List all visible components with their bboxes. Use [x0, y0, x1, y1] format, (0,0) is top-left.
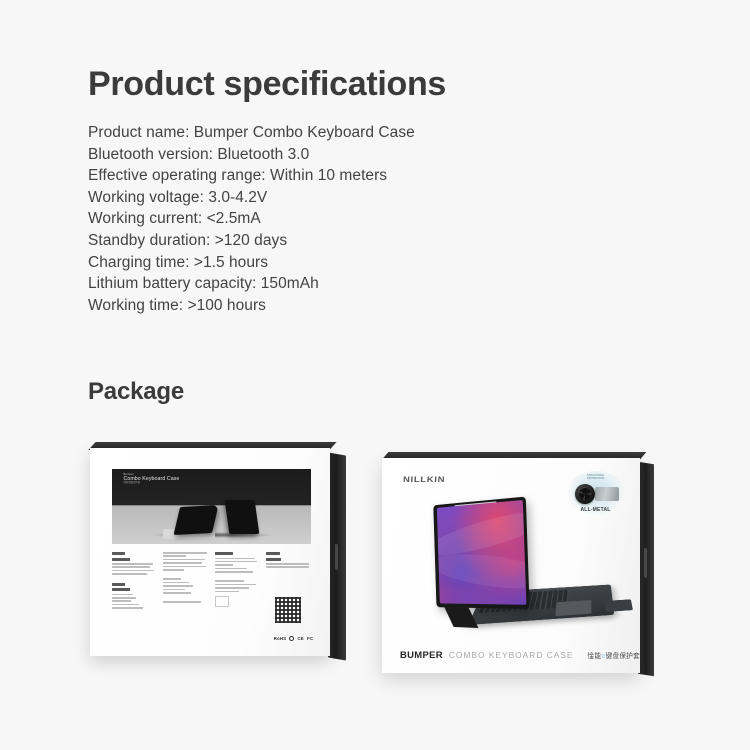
spec-line-product-name: Product name: Bumper Combo Keyboard Case: [88, 122, 648, 144]
box-back-text-row: [215, 568, 247, 570]
product-illustration: [418, 501, 614, 626]
box-back-column-3: [215, 552, 260, 644]
box-back-text-row: [215, 580, 244, 582]
package-box-front: NILLKIN STRUCTURAL PROTECTION ALL-METAL: [382, 458, 640, 673]
box-back-text-row: [163, 559, 205, 561]
box-back-col4-subheading: [266, 558, 281, 561]
cert-rohs-label: RoHS: [274, 636, 287, 641]
box-back-col3-heading: [215, 552, 234, 555]
box-back-text-row: [163, 562, 202, 564]
box-back-text-row: [215, 584, 256, 586]
box-back-col1-heading: [112, 552, 125, 555]
box-back-text-row: [112, 566, 150, 568]
certification-marks: RoHS CE FC: [274, 636, 314, 641]
box-back-col1-heading-2: [112, 583, 125, 586]
tablet-illustration: [433, 497, 529, 610]
product-page: Product specifications Product name: Bum…: [0, 0, 750, 750]
box-back-text-row: [112, 600, 132, 602]
chinese-product-label: 惍能○键盘保护套: [588, 650, 641, 660]
spec-line-operating-range: Effective operating range: Within 10 met…: [88, 165, 648, 187]
box-back-subtitle: 惍能键盘保护套: [124, 482, 180, 485]
box-back-col1-subheading: [112, 558, 131, 561]
box-front-face: NILLKIN STRUCTURAL PROTECTION ALL-METAL: [382, 458, 640, 673]
product-name-label: COMBO KEYBOARD CASE: [449, 650, 574, 660]
box-back-text-row: [163, 592, 191, 594]
badge-metal-bar-icon: [595, 487, 619, 501]
box-back-column-2: [163, 552, 208, 644]
cert-ce-label: CE: [297, 636, 304, 641]
box-back-text-row: [163, 569, 184, 571]
chinese-label-left: 惍能: [588, 653, 602, 660]
box-back-text-row: [163, 566, 206, 568]
box-back-text-row: [163, 585, 192, 587]
specifications-section: Product specifications Product name: Bum…: [88, 62, 648, 316]
tablet-screen: [437, 500, 527, 605]
qr-code-icon: [275, 597, 301, 623]
spec-line-charging-time: Charging time: >1.5 hours: [88, 252, 648, 274]
specifications-list: Product name: Bumper Combo Keyboard Case…: [88, 122, 648, 316]
box-back-text-row: [163, 552, 207, 554]
box-back-text-row: [215, 561, 258, 563]
box-front-spine-notch: [644, 547, 647, 577]
box-back-product-render-left: [174, 505, 219, 535]
spec-line-battery-capacity: Lithium battery capacity: 150mAh: [88, 273, 648, 295]
box-front-bottom-labels: BUMPER COMBO KEYBOARD CASE 惍能○键盘保护套: [400, 650, 640, 660]
cert-fc-label: FC: [307, 636, 313, 641]
keyboard-flap: [605, 600, 634, 613]
box-back-text-row: [163, 582, 189, 584]
package-images: Bumper Combo Keyboard Case 惍能键盘保护套: [0, 430, 750, 690]
box-back-product-render-right: [225, 500, 260, 534]
box-back-icon-frame: [215, 596, 229, 607]
box-back-text-row: [112, 594, 133, 596]
box-back-text-row: [215, 558, 255, 560]
box-back-text-row: [215, 591, 239, 593]
box-back-spine: [328, 452, 346, 660]
box-back-text-row: [163, 589, 185, 591]
box-back-text-row: [163, 578, 181, 580]
package-title: Package: [88, 378, 184, 406]
badge-top-line-2: PROTECTION: [567, 477, 625, 481]
box-back-banner: Bumper Combo Keyboard Case 惍能键盘保护套: [112, 469, 311, 544]
bumper-label: BUMPER: [400, 650, 443, 660]
box-back-text-row: [215, 571, 253, 573]
box-back-spine-notch: [335, 544, 338, 571]
box-back-col4-heading: [266, 552, 279, 555]
box-back-text-row: [163, 555, 186, 557]
chinese-label-right: 键盘保护套: [606, 653, 640, 660]
box-back-text-row: [112, 570, 154, 572]
badge-top-text: STRUCTURAL PROTECTION: [567, 474, 625, 481]
spec-line-standby-duration: Standby duration: >120 days: [88, 230, 648, 252]
box-back-col1-subheading-2: [112, 588, 131, 591]
box-back-text-row: [215, 564, 233, 566]
box-back-text-row: [266, 563, 309, 565]
box-back-banner-text: Bumper Combo Keyboard Case 惍能键盘保护套: [124, 473, 180, 485]
spec-line-bluetooth-version: Bluetooth version: Bluetooth 3.0: [88, 144, 648, 166]
box-front-spine: [638, 462, 654, 677]
box-back-column-1: [112, 552, 157, 644]
spec-line-working-time: Working time: >100 hours: [88, 295, 648, 317]
box-back-text-row: [112, 573, 148, 575]
nillkin-logo: NILLKIN: [402, 475, 445, 484]
page-title: Product specifications: [88, 62, 648, 106]
spec-line-working-voltage: Working voltage: 3.0-4.2V: [88, 187, 648, 209]
box-back-text-row: [215, 587, 250, 589]
keyboard-trackpad: [555, 600, 592, 616]
cert-circle-icon: [289, 636, 294, 641]
box-back-text-row: [112, 563, 153, 565]
package-box-back: Bumper Combo Keyboard Case 惍能键盘保护套: [90, 448, 330, 656]
box-back-text-row: [112, 597, 136, 599]
box-back-text-row: [266, 566, 309, 568]
box-back-text-row: [112, 604, 140, 606]
spec-line-working-current: Working current: <2.5mA: [88, 208, 648, 230]
box-back-face: Bumper Combo Keyboard Case 惍能键盘保护套: [90, 448, 330, 656]
box-back-text-row: [163, 601, 200, 603]
box-back-spacer: [112, 577, 157, 583]
box-back-text-row: [112, 607, 143, 609]
